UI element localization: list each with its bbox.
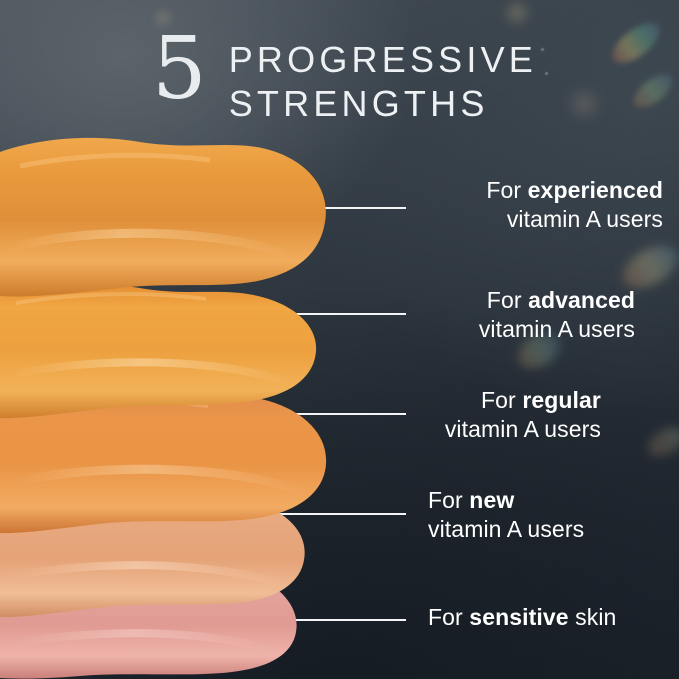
swatch-stack <box>0 130 360 679</box>
desc-prefix: For <box>428 604 469 630</box>
lens-flare-icon <box>500 0 534 26</box>
page-title: 5 PROGRESSIVE STRENGTHS <box>152 28 537 126</box>
lens-flare-icon <box>628 68 678 114</box>
desc-line2: vitamin A users <box>383 205 663 234</box>
swatch-strength-20 <box>0 130 360 300</box>
lens-flare-icon <box>643 422 679 463</box>
description-strength-1: For sensitive skin <box>428 603 674 632</box>
description-strength-6: For regularvitamin A users <box>383 386 601 444</box>
lens-flare-icon <box>606 16 666 71</box>
desc-prefix: For <box>487 287 528 313</box>
desc-line2: vitamin A users <box>428 515 668 544</box>
headline-number: 5 <box>152 30 207 109</box>
desc-emphasis: advanced <box>528 287 635 313</box>
description-strength-20: For experiencedvitamin A users <box>383 176 663 234</box>
dust-speck-icon <box>541 48 544 51</box>
desc-line2: vitamin A users <box>383 415 601 444</box>
desc-emphasis: experienced <box>528 177 663 203</box>
desc-emphasis: regular <box>522 387 601 413</box>
headline-words: PROGRESSIVE STRENGTHS <box>229 28 537 126</box>
dust-speck-icon <box>545 72 548 75</box>
lens-flare-icon <box>564 88 604 120</box>
desc-emphasis: sensitive <box>469 604 568 630</box>
description-strength-3: For newvitamin A users <box>428 486 668 544</box>
desc-emphasis: new <box>469 487 514 513</box>
retinaldehyde-strengths-infographic: 5 PROGRESSIVE STRENGTHS <box>0 0 679 679</box>
desc-prefix: For <box>486 177 527 203</box>
desc-prefix: For <box>428 487 469 513</box>
desc-line2: vitamin A users <box>383 315 635 344</box>
desc-prefix: For <box>481 387 522 413</box>
description-strength-10: For advancedvitamin A users <box>383 286 635 344</box>
desc-suffix: skin <box>569 604 617 630</box>
